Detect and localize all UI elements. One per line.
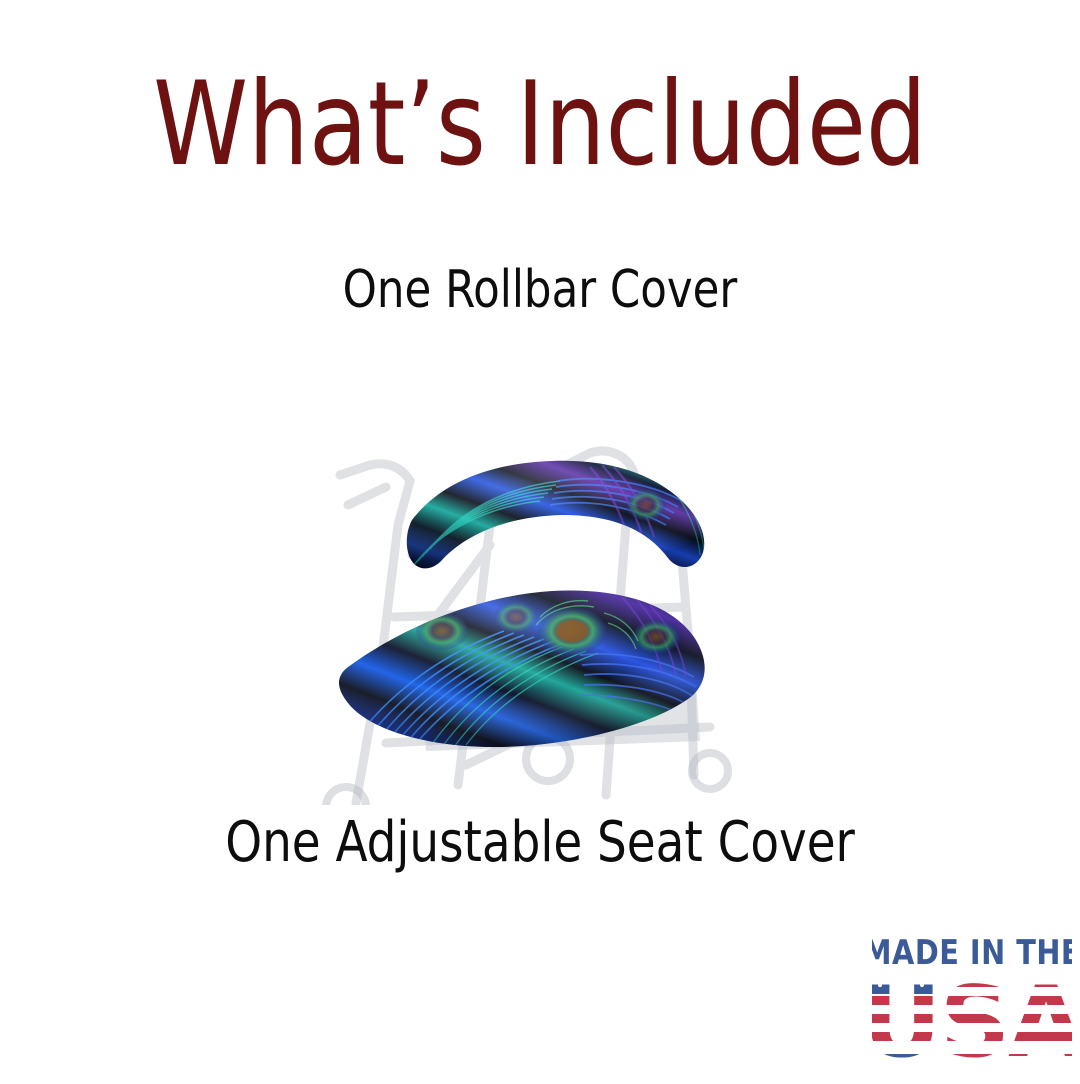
product-image — [290, 355, 790, 805]
rollbar-cover — [407, 461, 704, 569]
caption-seat-cover: One Adjustable Seat Cover — [38, 812, 1042, 874]
made-in-usa-badge: MADE IN THE USA — [872, 924, 1072, 1084]
usa-text: USA — [872, 966, 1072, 1080]
caption-rollbar-cover: One Rollbar Cover — [38, 262, 1042, 319]
whats-included-graphic: What’s Included One Rollbar Cover — [0, 0, 1080, 1080]
page-title: What’s Included — [43, 62, 1037, 187]
